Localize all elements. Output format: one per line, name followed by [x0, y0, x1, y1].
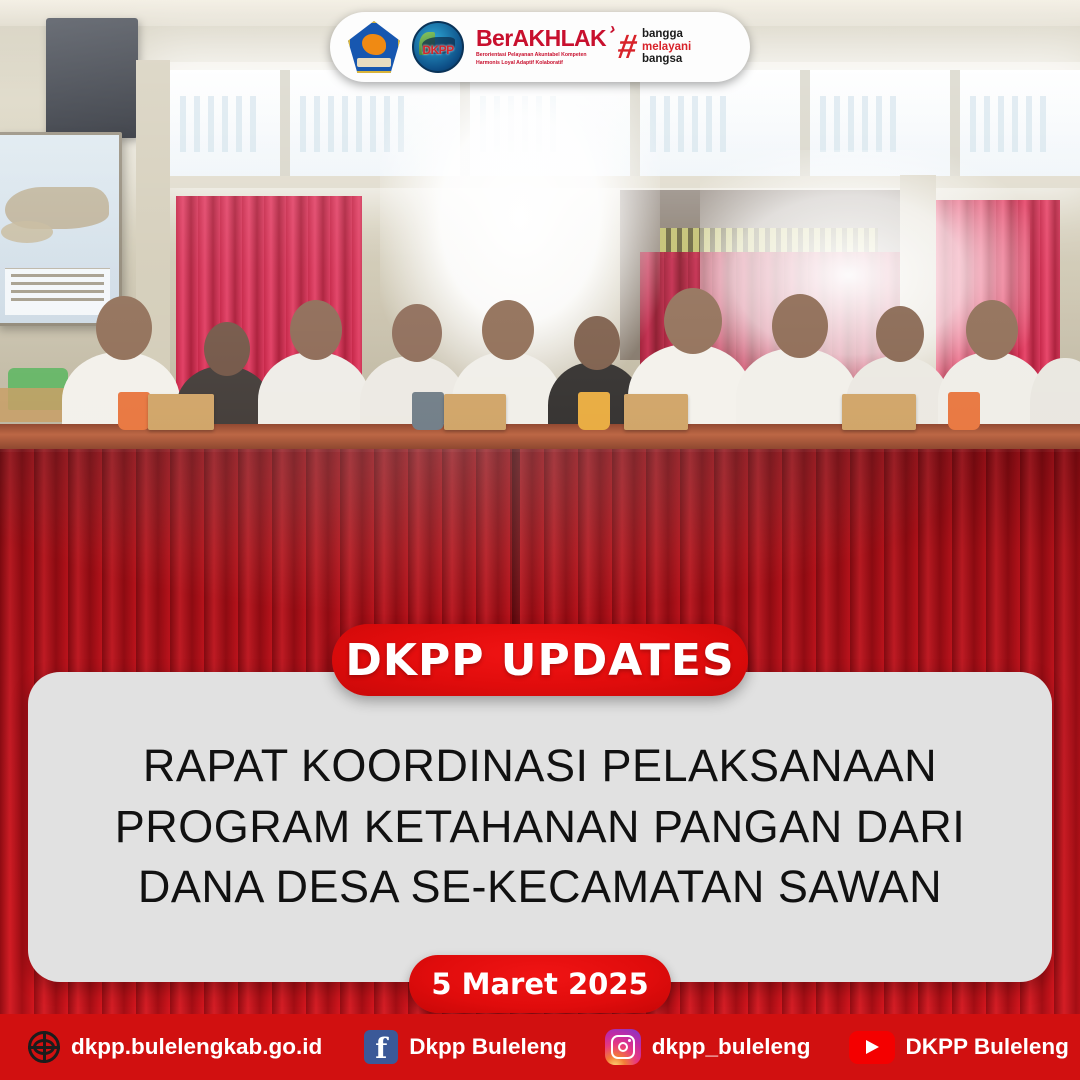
- footer-item-instagram[interactable]: dkpp_buleleng: [605, 1029, 811, 1065]
- berakhlak-title-text: BerAKHLAK: [476, 25, 606, 51]
- website-label: dkpp.bulelengkab.go.id: [71, 1034, 322, 1060]
- berakhlak-tick-icon: ›: [608, 19, 616, 37]
- globe-icon: [28, 1031, 60, 1063]
- page-title-line-2: PROGRAM KETAHANAN PANGAN DARI: [115, 797, 965, 858]
- photo-skirt-highlight: [0, 449, 1080, 649]
- footer-item-youtube[interactable]: DKPP Buleleng: [849, 1031, 1069, 1064]
- bangga-line3: bangsa: [642, 53, 691, 66]
- bangga-line1: bangga: [642, 28, 691, 41]
- berakhlak-subtitle-line2: Harmonis Loyal Adaptif Kolaboratif: [476, 60, 604, 68]
- berakhlak-logo: BerAKHLAK› Berorientasi Pelayanan Akunta…: [476, 27, 606, 68]
- logo-bar: DKPP BerAKHLAK› Berorientasi Pelayanan A…: [330, 12, 750, 82]
- youtube-label: DKPP Buleleng: [906, 1034, 1069, 1060]
- page-title: RAPAT KOORDINASI PELAKSANAAN PROGRAM KET…: [89, 736, 991, 918]
- dkpp-updates-badge: DKPP UPDATES: [332, 624, 748, 696]
- youtube-icon: [849, 1031, 895, 1064]
- buleleng-regency-emblem-icon: [348, 21, 400, 73]
- footer-social-bar: dkpp.bulelengkab.go.id f Dkpp Buleleng d…: [0, 1014, 1080, 1080]
- instagram-icon: [605, 1029, 641, 1065]
- berakhlak-subtitle: Berorientasi Pelayanan Akuntabel Kompete…: [476, 52, 604, 68]
- poster: DKPP BerAKHLAK› Berorientasi Pelayanan A…: [0, 0, 1080, 1080]
- facebook-icon: f: [364, 1030, 398, 1064]
- footer-item-website[interactable]: dkpp.bulelengkab.go.id: [28, 1031, 322, 1063]
- dkpp-logo-icon: DKPP: [412, 21, 464, 73]
- bangga-melayani-bangsa-logo: # bangga melayani bangsa: [618, 28, 691, 67]
- dkpp-logo-text: DKPP: [414, 43, 462, 57]
- title-card: RAPAT KOORDINASI PELAKSANAAN PROGRAM KET…: [28, 672, 1052, 982]
- dkpp-updates-label: DKPP UPDATES: [345, 635, 734, 686]
- hashtag-icon: #: [616, 30, 640, 64]
- facebook-label: Dkpp Buleleng: [409, 1034, 567, 1060]
- bangga-text: bangga melayani bangsa: [642, 28, 691, 67]
- bangga-line2: melayani: [642, 41, 691, 54]
- berakhlak-title: BerAKHLAK›: [476, 27, 606, 50]
- date-badge: 5 Maret 2025: [409, 955, 671, 1013]
- page-title-line-3: DANA DESA SE-KECAMATAN SAWAN: [115, 857, 965, 918]
- page-title-line-1: RAPAT KOORDINASI PELAKSANAAN: [115, 736, 965, 797]
- footer-item-facebook[interactable]: f Dkpp Buleleng: [364, 1030, 567, 1064]
- instagram-label: dkpp_buleleng: [652, 1034, 811, 1060]
- berakhlak-subtitle-line1: Berorientasi Pelayanan Akuntabel Kompete…: [476, 52, 604, 60]
- date-label: 5 Maret 2025: [431, 967, 648, 1001]
